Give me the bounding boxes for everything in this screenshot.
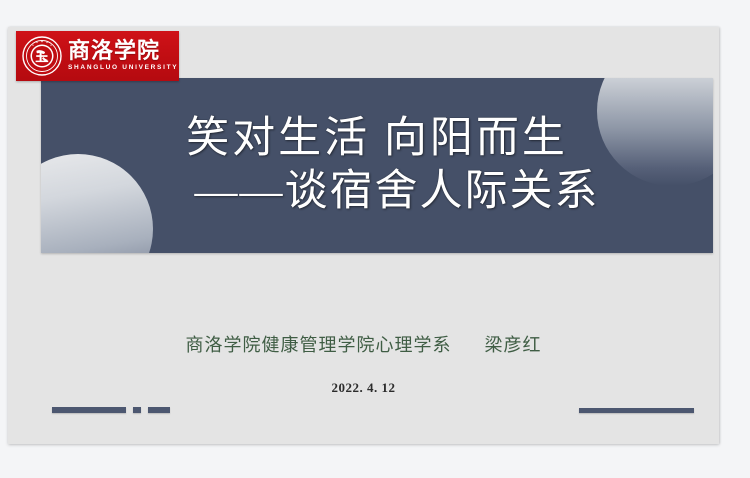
university-logo-text: 商洛学院 SHANGLUO UNIVERSITY (68, 40, 178, 72)
solid-rule-decoration (579, 408, 694, 413)
presenter-affiliation: 商洛学院健康管理学院心理学系 (186, 335, 452, 355)
university-name-cn: 商洛学院 (68, 40, 178, 62)
rule-segment-short (148, 407, 170, 413)
university-name-en: SHANGLUO UNIVERSITY (68, 65, 178, 72)
title-block: 笑对生活 向阳而生 ——谈宿舍人际关系 (41, 78, 713, 253)
slide-date: 2022. 4. 12 (8, 380, 719, 396)
slide-title: 笑对生活 向阳而生 (186, 114, 568, 165)
rule-segment-long (52, 407, 126, 413)
title-banner: 笑对生活 向阳而生 ——谈宿舍人际关系 (41, 78, 713, 253)
university-logo: 商洛学院 SHANGLUO UNIVERSITY (16, 31, 179, 81)
presenter-name: 梁彦红 (485, 335, 542, 355)
slide-viewer: 商洛学院 SHANGLUO UNIVERSITY 笑对生活 向阳而生 ——谈宿舍… (0, 0, 750, 478)
dashed-rule-decoration (52, 407, 170, 413)
presenter-line: 商洛学院健康管理学院心理学系 梁彦红 (8, 331, 719, 357)
university-seal-icon (22, 36, 62, 76)
rule-segment-dot (133, 407, 141, 413)
presentation-slide[interactable]: 商洛学院 SHANGLUO UNIVERSITY 笑对生活 向阳而生 ——谈宿舍… (8, 27, 719, 444)
slide-subtitle: ——谈宿舍人际关系 (155, 167, 600, 218)
